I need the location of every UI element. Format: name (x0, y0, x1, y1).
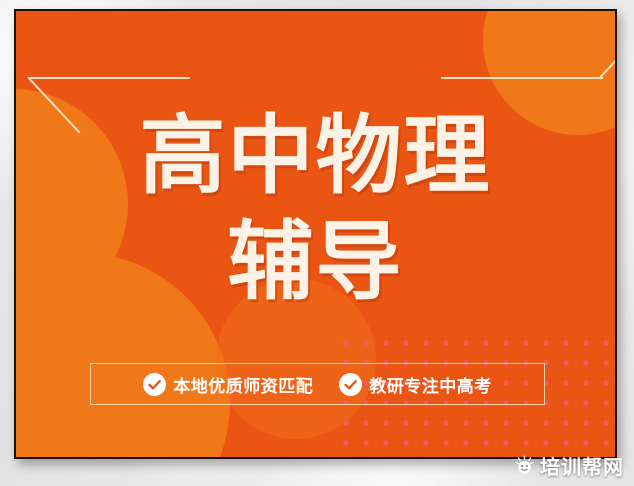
check-circle-icon (339, 373, 362, 396)
feature-item-1: 本地优质师资匹配 (143, 372, 313, 397)
watermark-text: 培训帮网 (540, 451, 624, 480)
feature-label-2: 教研专注中高考 (369, 372, 492, 397)
feature-item-2: 教研专注中高考 (339, 372, 492, 397)
feature-label-1: 本地优质师资匹配 (173, 372, 313, 397)
sun-face-icon (514, 455, 535, 476)
decoration-line-top-left (28, 77, 190, 79)
decoration-line-top-right (441, 77, 603, 79)
feature-highlights-box: 本地优质师资匹配 教研专注中高考 (90, 363, 545, 405)
site-watermark: 培训帮网 (510, 449, 628, 482)
poster-title-line-1: 高中物理 (16, 113, 615, 199)
course-poster: 高中物理 辅导 本地优质师资匹配 教研专注中高考 (14, 9, 617, 459)
poster-title-line-2: 辅导 (16, 219, 615, 305)
check-circle-icon (143, 373, 166, 396)
poster-title-block: 高中物理 辅导 (16, 113, 615, 305)
